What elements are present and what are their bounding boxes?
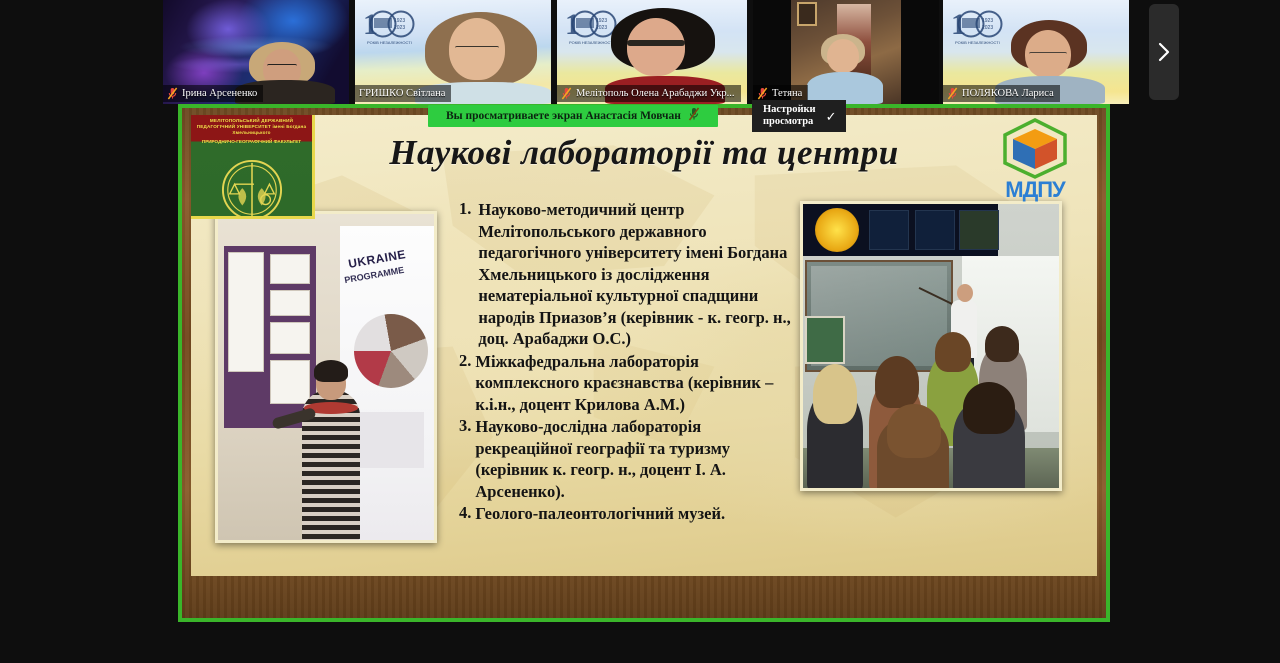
mdpu-logo-text: МДПУ: [987, 177, 1083, 203]
shared-screen-slide[interactable]: Наукові лабораторії та центри МЕЛІТОПОЛЬ…: [178, 104, 1110, 622]
slide-photo-classroom: [800, 201, 1062, 491]
mic-off-icon: [688, 107, 700, 126]
slide-wooden-frame: Наукові лабораторії та центри МЕЛІТОПОЛЬ…: [182, 108, 1106, 618]
list-item: 2. Міжкафедральна лабораторія комплексно…: [459, 351, 797, 416]
view-settings-line2: просмотра: [763, 116, 816, 128]
participant-figure: [807, 34, 883, 104]
list-item-text: Науково-дослідна лабораторія рекреаційно…: [475, 416, 797, 502]
slide-list: 1. Науково-методичний центр Мелітопольсь…: [459, 199, 797, 525]
svg-text:РОКІВ НЕЗАЛЕЖНОСТІ: РОКІВ НЕЗАЛЕЖНОСТІ: [367, 40, 412, 45]
mic-off-icon: [167, 87, 178, 100]
participant-nameplate: Ірина Арсененко: [163, 85, 263, 102]
svg-text:1923: 1923: [982, 18, 993, 24]
list-item-number: 1.: [459, 199, 471, 350]
mic-off-icon: [947, 87, 958, 100]
mic-off-icon: [757, 87, 768, 100]
screen-share-banner: Вы просматриваете экран Анастасія Мовчан: [428, 105, 718, 127]
participant-name: Ірина Арсененко: [182, 88, 257, 99]
view-settings-button[interactable]: Настройки просмотра ✓: [752, 100, 846, 132]
participant-name: Мелітополь Олена Арабаджи Укр...: [576, 88, 735, 99]
next-participants-button[interactable]: [1149, 4, 1179, 100]
participant-name: ПОЛЯКОВА Лариса: [962, 88, 1054, 99]
slide-title: Наукові лабораторії та центри: [191, 133, 1097, 173]
participant-name: ГРИШКО Світлана: [359, 88, 445, 99]
crest-university-name: МЕЛІТОПОЛЬСЬКИЙ ДЕРЖАВНИЙ ПЕДАГОГІЧНИЙ У…: [191, 115, 312, 136]
list-item-text: Науково-методичний центр Мелітопольськог…: [478, 199, 797, 350]
svg-text:2023: 2023: [394, 25, 405, 31]
check-icon: ✓: [826, 110, 837, 123]
participant-tile[interactable]: 1 1923 2023 РОКІВ НЕЗАЛЕЖНОСТІ: [943, 0, 1129, 104]
list-item: 1. Науково-методичний центр Мелітопольсь…: [459, 199, 797, 350]
crest-faculty-name: ПРИРОДНИЧО-ГЕОГРАФІЧНИЙ ФАКУЛЬТЕТ: [191, 136, 312, 147]
participant-nameplate: ГРИШКО Світлана: [355, 85, 451, 102]
screen-share-text: Вы просматриваете экран Анастасія Мовчан: [446, 110, 681, 122]
view-settings-line1: Настройки: [763, 104, 816, 116]
list-item-number: 4.: [459, 503, 471, 525]
participant-tile[interactable]: 1 1923 2023 РОКІВ НЕЗАЛЕЖНОСТІ: [355, 0, 551, 104]
participant-filmstrip: Ірина Арсененко 1 1923 2023 РОКІВ НЕЗАЛЕ…: [0, 0, 1280, 104]
participant-nameplate: ПОЛЯКОВА Лариса: [943, 85, 1060, 102]
zoom-meeting-screen: Ірина Арсененко 1 1923 2023 РОКІВ НЕЗАЛЕ…: [0, 0, 1280, 663]
list-item: 4. Геолого-палеонтологічний музей.: [459, 503, 797, 525]
university-crest: МЕЛІТОПОЛЬСЬКИЙ ДЕРЖАВНИЙ ПЕДАГОГІЧНИЙ У…: [191, 115, 315, 219]
participant-tile[interactable]: 1 1923 2023 РОКІВ НЕЗАЛЕЖНОСТІ: [557, 0, 747, 104]
list-item-number: 3.: [459, 416, 471, 502]
participant-tile[interactable]: Тетяна: [753, 0, 939, 104]
mic-off-icon: [561, 87, 572, 100]
crest-seal-icon: [221, 159, 283, 219]
participant-name: Тетяна: [772, 88, 802, 99]
list-item: 3. Науково-дослідна лабораторія рекреаці…: [459, 416, 797, 502]
slide-photo-presentation: UKRAINE PROGRAMME: [215, 211, 437, 543]
participant-nameplate: Мелітополь Олена Арабаджи Укр...: [557, 85, 741, 102]
chevron-right-icon: [1157, 41, 1171, 63]
participant-tile[interactable]: Ірина Арсененко: [163, 0, 349, 104]
list-item-number: 2.: [459, 351, 471, 416]
svg-text:РОКІВ НЕЗАЛЕЖНОСТІ: РОКІВ НЕЗАЛЕЖНОСТІ: [955, 40, 1000, 45]
mdpu-logo: МДПУ: [987, 117, 1083, 203]
list-item-text: Міжкафедральна лабораторія комплексного …: [475, 351, 797, 416]
svg-text:1923: 1923: [394, 18, 405, 24]
slide-parchment-background: Наукові лабораторії та центри МЕЛІТОПОЛЬ…: [191, 115, 1097, 576]
svg-text:2023: 2023: [982, 25, 993, 31]
centenary-100-emblem-icon: 1 1923 2023 РОКІВ НЕЗАЛЕЖНОСТІ: [361, 4, 417, 48]
list-item-text: Геолого-палеонтологічний музей.: [475, 503, 725, 525]
